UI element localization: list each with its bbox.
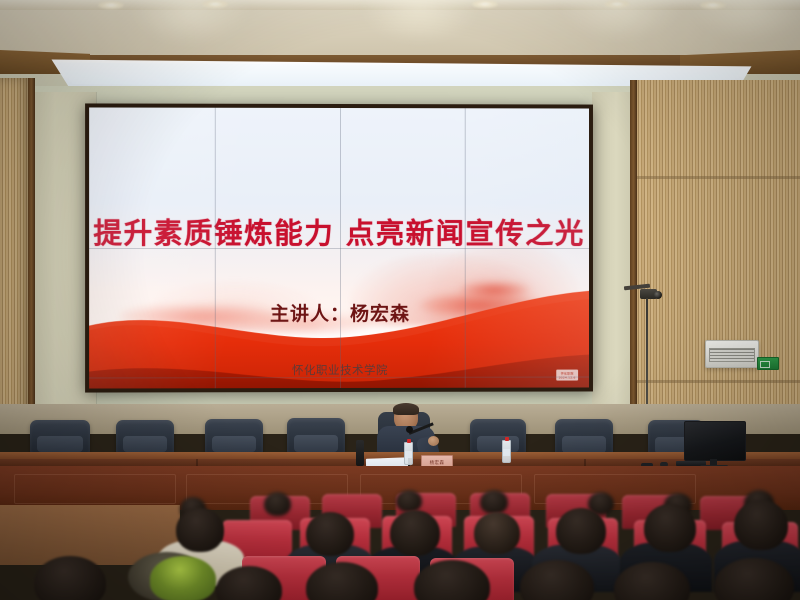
audience-head — [480, 490, 508, 514]
audience-head — [264, 492, 291, 516]
audience-head — [306, 512, 354, 556]
audience-head — [176, 508, 224, 552]
wood-slat-wall-left — [0, 78, 30, 428]
water-bottle — [404, 442, 413, 465]
slat-wall-divider — [636, 380, 800, 383]
wood-trim — [28, 78, 35, 428]
microphone-head-icon — [406, 426, 413, 433]
stage-chair — [555, 419, 613, 455]
nameplate-text: 杨宏森 — [430, 460, 445, 466]
wood-slat-wall-right — [636, 80, 800, 428]
microphone-base-unit — [356, 440, 364, 466]
wall-panel — [14, 474, 176, 504]
audience-head — [396, 490, 422, 512]
audience-head — [734, 500, 788, 550]
recessed-spot-light-icon — [202, 0, 228, 8]
slide-logo-watermark: 怀化职院 2024.12.6 — [556, 370, 578, 381]
stage-chair — [205, 419, 263, 454]
recessed-spot-light-icon — [700, 1, 726, 9]
wood-trim — [630, 80, 637, 428]
lecture-hall-photo: 提升素质锤炼能力 点亮新闻宣传之光 主讲人：杨宏森 怀化职业技术学院 2024年… — [0, 0, 800, 600]
stage-chair — [470, 419, 526, 454]
video-wall-seam — [89, 248, 589, 249]
speaker-hair — [393, 403, 419, 415]
speaker-hand — [428, 436, 439, 446]
recessed-spot-light-icon — [604, 0, 630, 8]
led-video-wall[interactable]: 提升素质锤炼能力 点亮新闻宣传之光 主讲人：杨宏森 怀化职业技术学院 2024年… — [85, 103, 593, 392]
audience-head — [644, 504, 696, 552]
recessed-spot-light-icon — [98, 1, 124, 9]
stage-chair — [116, 420, 174, 454]
audience-beanie-hat — [150, 556, 216, 600]
audience-head — [390, 510, 440, 556]
recessed-spot-light-icon — [472, 0, 498, 8]
slide-surface: 提升素质锤炼能力 点亮新闻宣传之光 主讲人：杨宏森 怀化职业技术学院 2024年… — [89, 107, 589, 388]
camera-lens-icon — [654, 291, 662, 299]
slat-wall-divider — [636, 176, 800, 179]
audience-head — [556, 508, 606, 554]
desktop-monitor[interactable] — [684, 421, 746, 461]
camera-cable — [646, 298, 648, 416]
stage-chair — [30, 420, 90, 454]
audience-head — [474, 512, 520, 554]
water-bottle — [502, 440, 511, 463]
ac-vent-louvers — [709, 348, 755, 362]
stage-chair — [287, 418, 345, 454]
exit-sign — [757, 357, 779, 370]
